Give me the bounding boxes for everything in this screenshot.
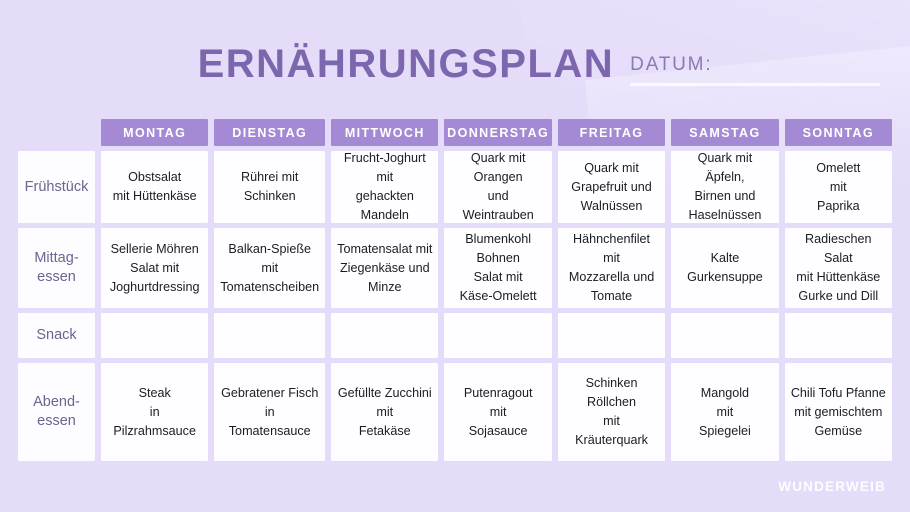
- meal-cell[interactable]: Mangold mit Spiegelei: [671, 363, 778, 461]
- date-field-group: DATUM:: [630, 54, 712, 76]
- day-header-sonntag: SONNTAG: [785, 119, 892, 146]
- meal-cell[interactable]: Gebratener Fisch in Tomatensauce: [214, 363, 325, 461]
- meal-row-label: Snack: [18, 313, 95, 358]
- meal-cell[interactable]: [671, 313, 778, 358]
- day-header-dienstag: DIENSTAG: [214, 119, 325, 146]
- day-header-samstag: SAMSTAG: [671, 119, 778, 146]
- meal-cell[interactable]: [331, 313, 438, 358]
- meal-cell[interactable]: Radieschen Salat mit Hüttenkäse Gurke un…: [785, 228, 892, 308]
- day-header-freitag: FREITAG: [558, 119, 665, 146]
- meal-cell[interactable]: Tomatensalat mit Ziegenkäse und Minze: [331, 228, 438, 308]
- day-header-donnerstag: DONNERSTAG: [444, 119, 551, 146]
- meal-cell[interactable]: Putenragout mit Sojasauce: [444, 363, 551, 461]
- meal-cell[interactable]: [214, 313, 325, 358]
- meal-cell[interactable]: Chili Tofu Pfanne mit gemischtem Gemüse: [785, 363, 892, 461]
- meal-cell[interactable]: [101, 313, 208, 358]
- watermark-wunderweib: WUNDERWEIB: [778, 479, 886, 494]
- meal-cell[interactable]: Omelett mit Paprika: [785, 151, 892, 223]
- page-title: ERNÄHRUNGSPLAN: [198, 42, 615, 86]
- page-header: ERNÄHRUNGSPLAN DATUM:: [0, 42, 910, 102]
- meal-cell[interactable]: Quark mit Äpfeln, Birnen und Haselnüssen: [671, 151, 778, 223]
- meal-cell[interactable]: Kalte Gurkensuppe: [671, 228, 778, 308]
- meal-row-label: Abend- essen: [18, 363, 95, 461]
- meal-cell[interactable]: Quark mit Orangen und Weintrauben: [444, 151, 551, 223]
- meal-cell[interactable]: Gefüllte Zucchini mit Fetakäse: [331, 363, 438, 461]
- meal-plan-table: MONTAGDIENSTAGMITTWOCHDONNERSTAGFREITAGS…: [18, 119, 892, 456]
- meal-cell[interactable]: Obstsalat mit Hüttenkäse: [101, 151, 208, 223]
- table-corner-spacer: [18, 119, 95, 146]
- meal-cell[interactable]: Quark mit Grapefruit und Walnüssen: [558, 151, 665, 223]
- date-input-line[interactable]: [630, 83, 880, 86]
- date-label: DATUM:: [630, 54, 712, 76]
- meal-cell[interactable]: Sellerie Möhren Salat mit Joghurtdressin…: [101, 228, 208, 308]
- meal-cell[interactable]: [785, 313, 892, 358]
- meal-cell[interactable]: Rührei mit Schinken: [214, 151, 325, 223]
- meal-cell[interactable]: Schinken Röllchen mit Kräuterquark: [558, 363, 665, 461]
- meal-cell[interactable]: [558, 313, 665, 358]
- meal-cell[interactable]: Balkan-Spieße mit Tomatenscheiben: [214, 228, 325, 308]
- meal-row-label: Mittag- essen: [18, 228, 95, 308]
- day-header-mittwoch: MITTWOCH: [331, 119, 438, 146]
- meal-cell[interactable]: [444, 313, 551, 358]
- meal-cell[interactable]: Hähnchenfilet mit Mozzarella und Tomate: [558, 228, 665, 308]
- meal-cell[interactable]: Frucht-Joghurt mit gehackten Mandeln: [331, 151, 438, 223]
- meal-cell[interactable]: Steak in Pilzrahmsauce: [101, 363, 208, 461]
- meal-cell[interactable]: Blumenkohl Bohnen Salat mit Käse-Omelett: [444, 228, 551, 308]
- day-header-montag: MONTAG: [101, 119, 208, 146]
- meal-row-label: Frühstück: [18, 151, 95, 223]
